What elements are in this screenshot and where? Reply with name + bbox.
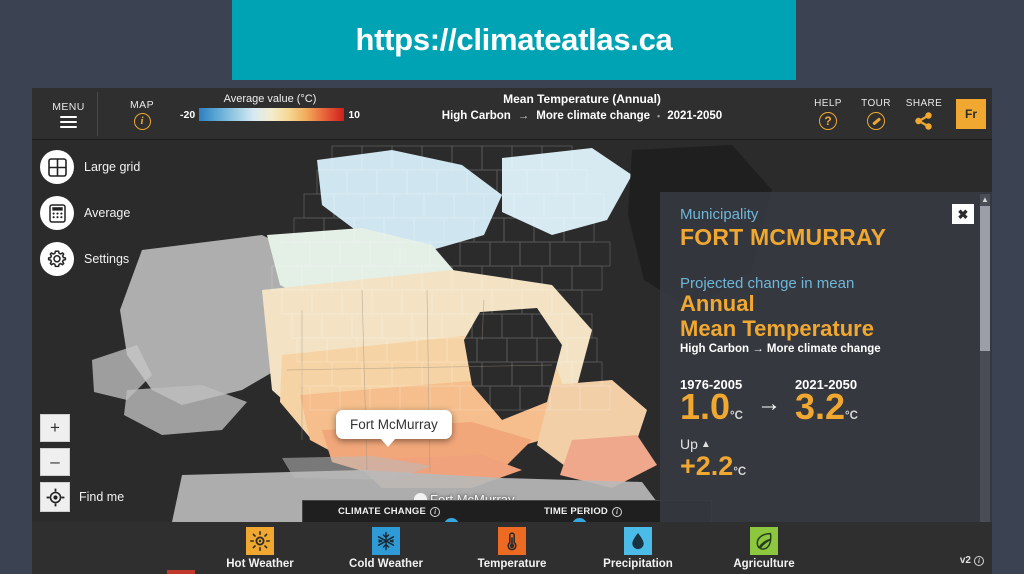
nav-item-precipitation[interactable]: Precipitation	[592, 527, 684, 570]
info-icon[interactable]: i	[612, 507, 622, 517]
gear-icon	[40, 242, 74, 276]
compass-icon	[867, 112, 885, 130]
help-button[interactable]: HELP ?	[804, 98, 852, 130]
nav-label-agriculture: Agriculture	[733, 558, 794, 570]
panel-scrollbar-thumb[interactable]	[980, 206, 990, 351]
map-info-button[interactable]: MAP i	[112, 92, 172, 136]
municipality-label: Municipality	[680, 206, 972, 223]
map-title-block: Mean Temperature (Annual) High Carbon → …	[372, 92, 792, 122]
hamburger-icon	[60, 116, 77, 128]
info-icon[interactable]: i	[430, 507, 440, 517]
url-banner: https://climateatlas.ca	[232, 0, 796, 80]
thermometer-icon	[498, 527, 526, 555]
panel-scrollbar[interactable]: ▲ ▼	[980, 194, 990, 522]
find-me-button[interactable]	[40, 482, 70, 512]
toolbar-right-actions: HELP ? TOUR SHARE	[804, 92, 986, 136]
version-label: v2	[960, 555, 971, 566]
change-arrow-icon: →	[747, 390, 791, 426]
separator-dot: •	[657, 111, 660, 121]
nav-item-temperature[interactable]: Temperature	[466, 527, 558, 570]
help-label: HELP	[814, 98, 842, 109]
settings-button[interactable]: Settings	[40, 242, 140, 276]
large-grid-button[interactable]: Large grid	[40, 150, 140, 184]
map-legend: Average value (°C) -20 10	[180, 93, 360, 135]
tooltip-text: Fort McMurray	[350, 417, 438, 432]
zoom-controls: + – Find me	[40, 414, 124, 512]
average-label: Average	[84, 206, 130, 220]
language-toggle-button[interactable]: Fr	[956, 99, 986, 129]
menu-label: MENU	[52, 101, 85, 113]
baseline-unit: °C	[730, 410, 743, 422]
sun-icon	[246, 527, 274, 555]
question-mark-icon: ?	[819, 112, 837, 130]
time-period-title: TIME PERIOD	[544, 506, 608, 517]
value-comparison: 1976-2005 1.0°C → 2021-2050 3.2°C	[680, 377, 972, 426]
city-tooltip: Fort McMurray	[336, 410, 452, 439]
map-scenario: High Carbon	[442, 110, 511, 122]
map-label: MAP	[130, 99, 154, 111]
location-info-panel: ✖ Municipality FORT MCMURRAY Projected c…	[660, 192, 992, 522]
map-viewport[interactable]: 2021–2050 Large grid	[32, 140, 992, 522]
delta-label: Up	[680, 436, 698, 452]
nav-label-precipitation: Precipitation	[603, 558, 673, 570]
baseline-value: 1.0	[680, 386, 730, 427]
legend-gradient-bar	[199, 108, 344, 121]
map-variable-title: Mean Temperature (Annual)	[372, 92, 792, 106]
legend-title: Average value (°C)	[180, 93, 360, 105]
legend-min-value: -20	[180, 109, 195, 121]
menu-button[interactable]: MENU	[40, 92, 98, 136]
zoom-in-button[interactable]: +	[40, 414, 70, 442]
large-grid-label: Large grid	[84, 160, 140, 174]
red-accent-strip	[167, 570, 195, 574]
climate-change-slider-group: CLIMATE CHANGE i LESS MORE	[313, 506, 465, 522]
url-text: https://climateatlas.ca	[356, 22, 673, 58]
nav-label-temperature: Temperature	[478, 558, 547, 570]
version-indicator[interactable]: v2 i	[960, 555, 984, 566]
category-nav-bar: Hot Weather	[32, 522, 992, 574]
tour-button[interactable]: TOUR	[852, 98, 900, 130]
variable-line-1: Annual	[680, 292, 972, 317]
average-button[interactable]: Average	[40, 196, 140, 230]
grid-icon	[40, 150, 74, 184]
variable-line-2: Mean Temperature	[680, 317, 972, 342]
close-icon[interactable]: ✖	[952, 204, 974, 224]
calculator-icon	[40, 196, 74, 230]
slider-panel: CLIMATE CHANGE i LESS MORE TIME PERIOD i	[302, 500, 712, 522]
top-toolbar: MENU MAP i Average value (°C) -20 10 Mea…	[32, 88, 992, 140]
legend-max-value: 10	[348, 109, 360, 121]
nav-item-hot-weather[interactable]: Hot Weather	[214, 527, 306, 570]
share-button[interactable]: SHARE	[900, 98, 948, 130]
panel-scenario-line: High Carbon → More climate change	[680, 343, 972, 355]
future-unit: °C	[845, 410, 858, 422]
share-label: SHARE	[906, 98, 942, 109]
delta-value: +2.2	[680, 451, 733, 481]
arrow-icon: →	[518, 110, 530, 122]
map-period: 2021-2050	[667, 110, 722, 122]
water-drop-icon	[624, 527, 652, 555]
settings-label: Settings	[84, 252, 129, 266]
zoom-out-button[interactable]: –	[40, 448, 70, 476]
share-icon	[914, 112, 934, 130]
up-arrow-icon: ▲	[701, 439, 711, 450]
tour-label: TOUR	[861, 98, 891, 109]
find-me-label: Find me	[79, 490, 124, 504]
projected-change-label: Projected change in mean	[680, 275, 972, 292]
municipality-name: FORT MCMURRAY	[680, 224, 972, 251]
info-icon[interactable]: i	[974, 556, 984, 566]
scroll-up-icon[interactable]: ▲	[980, 195, 990, 204]
baseline-value-block: 1976-2005 1.0°C	[680, 377, 743, 426]
future-value-block: 2021-2050 3.2°C	[795, 377, 858, 426]
nav-label-cold-weather: Cold Weather	[349, 558, 423, 570]
snowflake-icon	[372, 527, 400, 555]
screenshot-root: https://climateatlas.ca MENU MAP i Avera…	[0, 0, 1024, 574]
nav-item-agriculture[interactable]: Agriculture	[718, 527, 810, 570]
climate-change-title: CLIMATE CHANGE	[338, 506, 426, 517]
map-scenario-desc: More climate change	[536, 110, 650, 122]
future-value: 3.2	[795, 386, 845, 427]
climate-atlas-app: MENU MAP i Average value (°C) -20 10 Mea…	[32, 88, 992, 574]
leaf-icon	[750, 527, 778, 555]
map-tool-buttons: Large grid Average	[40, 150, 140, 288]
delta-unit: °C	[733, 466, 746, 478]
nav-item-cold-weather[interactable]: Cold Weather	[340, 527, 432, 570]
info-icon: i	[134, 113, 151, 130]
delta-block: Up ▲ +2.2°C	[680, 436, 972, 480]
nav-label-hot-weather: Hot Weather	[226, 558, 294, 570]
